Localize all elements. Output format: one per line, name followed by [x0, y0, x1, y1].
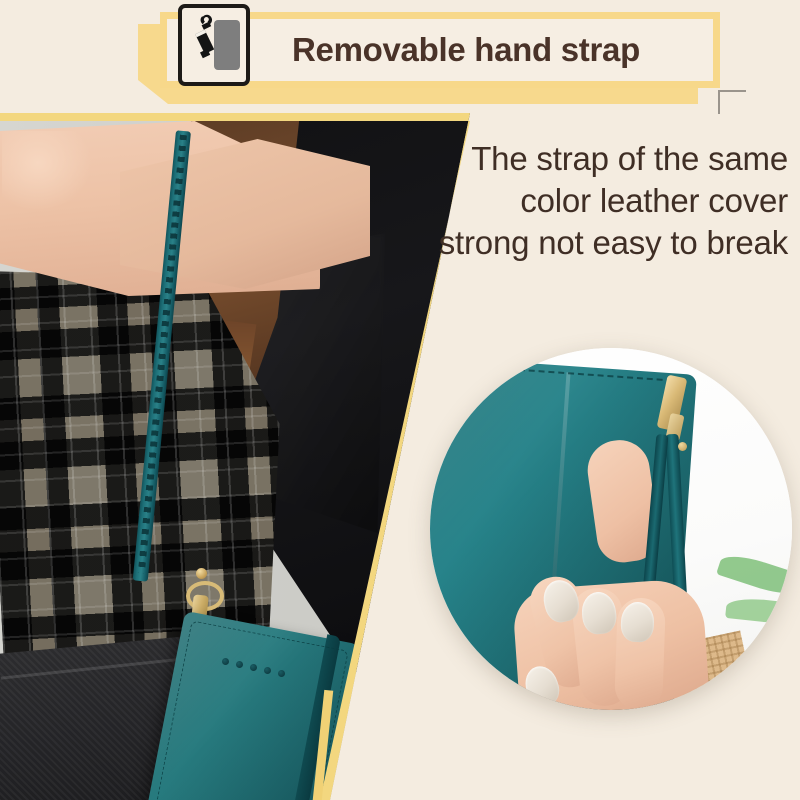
description-line-2: color leather cover [388, 180, 788, 222]
hand-strap-phone-icon [178, 4, 250, 86]
feature-description: The strap of the same color leather cove… [388, 138, 788, 264]
closeup-circle-photo [430, 348, 792, 710]
inset-fingernail [620, 601, 654, 642]
decorative-corner-bracket [718, 90, 746, 114]
product-feature-panel: Removable hand strap The strap of the sa… [0, 0, 800, 800]
banner-title: Removable hand strap [292, 22, 702, 78]
inset-strap-rivet [678, 442, 687, 451]
description-line-1: The strap of the same [388, 138, 788, 180]
description-line-3: strong not easy to break [388, 222, 788, 264]
